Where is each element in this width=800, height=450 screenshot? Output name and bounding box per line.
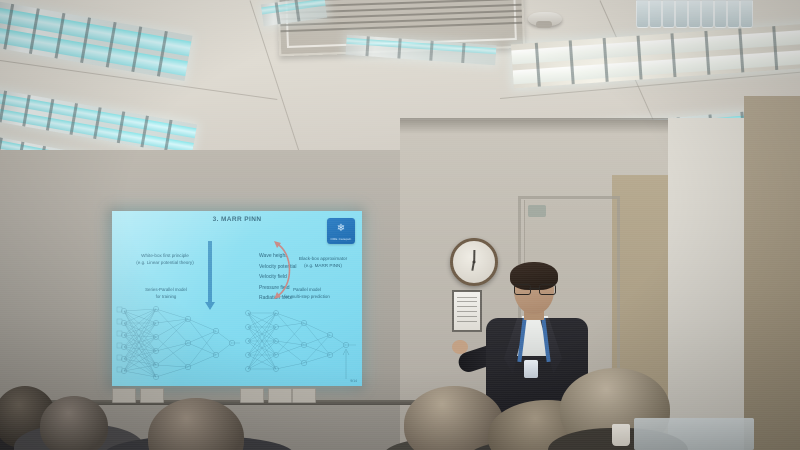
water-glass: [740, 0, 753, 28]
water-glass: [714, 0, 727, 28]
power-socket: [292, 388, 316, 403]
screen-glare: [112, 211, 362, 386]
projection-screen: 3. MARR PINN ❄ ORE Catapult White-box fi…: [112, 211, 362, 386]
water-glass: [662, 0, 675, 28]
power-socket: [112, 388, 136, 403]
water-glass: [727, 0, 740, 28]
power-socket: [140, 388, 164, 403]
exit-sign-icon: [528, 205, 546, 217]
presenter-hand: [452, 340, 468, 354]
pillar-front-face: [668, 118, 748, 450]
water-glass-tray: [634, 418, 754, 450]
paper-cup: [612, 424, 630, 446]
glasses-icon: [514, 284, 554, 293]
conference-room-photo: 3. MARR PINN ❄ ORE Catapult White-box fi…: [0, 0, 800, 450]
smoke-detector-icon: [528, 12, 562, 26]
water-glass: [688, 0, 701, 28]
presenter-badge: [524, 360, 538, 378]
water-glass: [636, 0, 649, 28]
ceiling-lamp: [511, 24, 800, 89]
water-glass: [701, 0, 714, 28]
wall-ceiling-shadow: [400, 118, 670, 134]
water-glass: [649, 0, 662, 28]
water-glass: [675, 0, 688, 28]
power-socket: [240, 388, 264, 403]
ceiling-lamp: [0, 1, 192, 81]
power-socket: [268, 388, 292, 403]
attendee-left-head: [40, 396, 108, 450]
pillar-side-face: [744, 96, 800, 450]
